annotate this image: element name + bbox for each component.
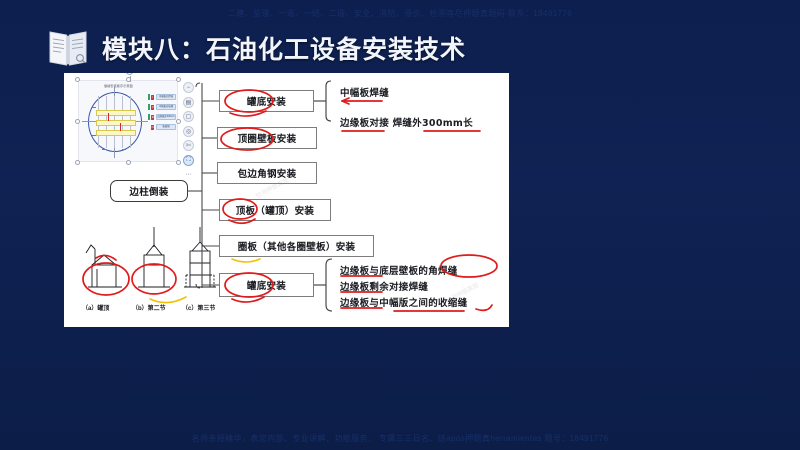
sub-figure-group: （a）罐顶 （b）第二节 （c）第三节 [64, 223, 229, 323]
watermark-top: 二建、监理、一造、一结、二造、安全、消防、造价、检测等尽押题真题码-联系：184… [0, 8, 800, 19]
resize-handle-nw[interactable] [75, 77, 80, 82]
flow-box-top-ring-wall-install[interactable]: 顶圈壁板安装 [217, 127, 317, 149]
more-options-icon[interactable]: ⋯ [183, 169, 194, 180]
legend-bar-icon [148, 94, 150, 100]
legend-bar-icon [148, 114, 150, 120]
picture-object[interactable]: 储罐安装顺序示意图 [78, 80, 178, 162]
resize-handle-s[interactable] [126, 160, 131, 165]
branch-text-remaining-butt-weld: 边缘板剩余对接焊缝 [340, 279, 428, 293]
legend-item: II 中幅板对接缝 [148, 104, 176, 110]
crop-icon[interactable]: ▢ [183, 111, 194, 122]
branch-text-center-plate-weld: 中幅板焊缝 [340, 85, 389, 99]
legend-item: IV 收缩缝 [148, 124, 176, 130]
legend-label: 收缩缝 [156, 124, 176, 130]
flow-box-ring-plate-install[interactable]: 圈板（其他各圈壁板）安装 [219, 235, 374, 257]
legend-item: I 中幅板先焊接 [148, 94, 176, 100]
picture-title: 储罐安装顺序示意图 [104, 84, 133, 88]
sub-figure-caption-b: （b）第二节 [132, 303, 166, 312]
watermark-bottom: 名师亲授精华，表您内部、专业讲解、功能服务、 专属三三日名、结após押题真he… [0, 433, 800, 444]
open-book-icon [46, 26, 90, 70]
legend-item: III 边缘板外300mm [148, 114, 176, 120]
picture-floating-toolbar[interactable]: − ▤ ▢ ◎ ✄ ⛶ ⋯ [183, 82, 196, 184]
diagram-legend: I 中幅板先焊接 II 中幅板对接缝 III 边缘板外300mm IV 收缩缝 [148, 94, 176, 134]
scissors-icon[interactable]: ✄ [183, 140, 194, 151]
resize-handle-n[interactable] [126, 77, 131, 82]
page-title: 模块八：石油化工设备安装技术 [102, 30, 466, 66]
legend-number: II [151, 105, 154, 110]
legend-number: IV [151, 125, 154, 130]
flow-box-tank-bottom-install-1[interactable]: 罐底安装 [219, 90, 314, 112]
flow-box-edge-angle-steel-install[interactable]: 包边角钢安装 [217, 162, 317, 184]
resize-handle-sw[interactable] [75, 160, 80, 165]
branch-text-edge-plate-butt-weld: 边缘板对接 焊缝外300mm长 [340, 115, 473, 129]
rotate-handle[interactable] [126, 73, 133, 75]
legend-label: 中幅板先焊接 [156, 94, 176, 100]
legend-number: I [151, 95, 154, 100]
legend-label: 中幅板对接缝 [156, 104, 176, 110]
resize-handle-e[interactable] [176, 119, 181, 124]
target-icon[interactable]: ◎ [183, 126, 194, 137]
sub-figure-caption-c: （c）第三节 [182, 303, 215, 312]
resize-handle-w[interactable] [75, 119, 80, 124]
flow-node-side-column-inverted[interactable]: 边柱倒装 [110, 180, 188, 202]
legend-label: 边缘板外300mm [156, 114, 176, 120]
resize-handle-se[interactable] [176, 160, 181, 165]
expand-icon[interactable]: ⛶ [183, 155, 194, 166]
layout-icon[interactable]: ▤ [183, 97, 194, 108]
minus-circle-icon[interactable]: − [183, 82, 194, 93]
legend-bar-icon [148, 104, 150, 110]
slide-background: 二建、监理、一造、一结、二造、安全、消防、造价、检测等尽押题真题码-联系：184… [0, 0, 800, 450]
tank-bottom-diagram [88, 92, 142, 152]
flow-box-roof-plate-install[interactable]: 顶板（罐顶）安装 [219, 199, 331, 221]
legend-number: III [151, 115, 154, 120]
branch-text-fillet-weld: 边缘板与底层壁板的角焊缝 [340, 263, 458, 277]
resize-handle-ne[interactable] [176, 77, 181, 82]
content-panel: 储罐安装顺序示意图 [64, 73, 509, 327]
slide-header: 模块八：石油化工设备安装技术 [46, 26, 466, 70]
flow-box-tank-bottom-install-2[interactable]: 罐底安装 [219, 273, 314, 297]
sub-figure-caption-a: （a）罐顶 [82, 303, 109, 312]
